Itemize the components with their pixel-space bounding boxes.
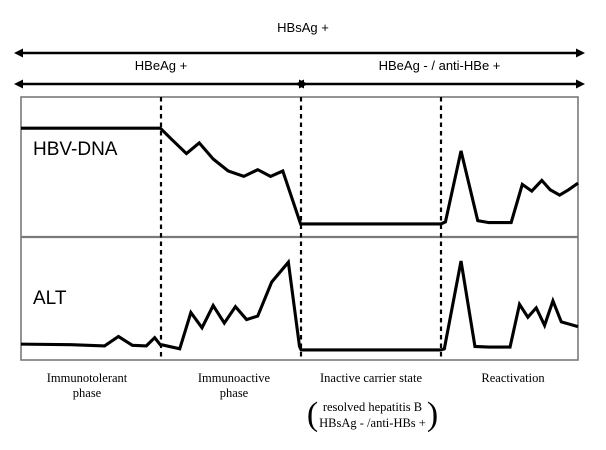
- phase-caption-line1: Immunotolerant: [12, 371, 162, 386]
- hbeag-negative-band-label: HBeAg - / anti-HBe +: [301, 58, 578, 73]
- hbsag-band-label: HBsAg +: [0, 20, 606, 35]
- phase-caption-immunotolerant: Immunotolerant phase: [12, 371, 162, 401]
- phase-caption-line1: Reactivation: [448, 371, 578, 386]
- hbeag-positive-band-label: HBeAg +: [21, 58, 301, 73]
- right-parenthesis-glyph: ): [427, 400, 438, 430]
- phase-caption-immunoactive: Immunoactive phase: [170, 371, 298, 401]
- alt-series-label: ALT: [33, 288, 66, 310]
- inactive-carrier-note-line1: resolved hepatitis B: [323, 400, 422, 414]
- phase-caption-line1: Immunoactive: [170, 371, 298, 386]
- phase-caption-line1: Inactive carrier state: [296, 371, 446, 386]
- phase-caption-reactivation: Reactivation: [448, 371, 578, 386]
- phase-caption-inactive-carrier: Inactive carrier state: [296, 371, 446, 386]
- plot-frame: [21, 97, 578, 360]
- alt-curve: [21, 261, 578, 350]
- phase-caption-line2: phase: [12, 386, 162, 401]
- hbv-natural-course-figure: HBsAg + HBeAg + HBeAg - / anti-HBe + HBV…: [0, 0, 606, 450]
- left-parenthesis-glyph: (: [307, 400, 318, 430]
- phase-caption-line2: phase: [170, 386, 298, 401]
- inactive-carrier-note: ( resolved hepatitis B HBsAg - /anti-HBs…: [290, 399, 455, 431]
- hbv-dna-series-label: HBV-DNA: [33, 139, 117, 161]
- inactive-carrier-note-line2: HBsAg - /anti-HBs +: [319, 416, 426, 430]
